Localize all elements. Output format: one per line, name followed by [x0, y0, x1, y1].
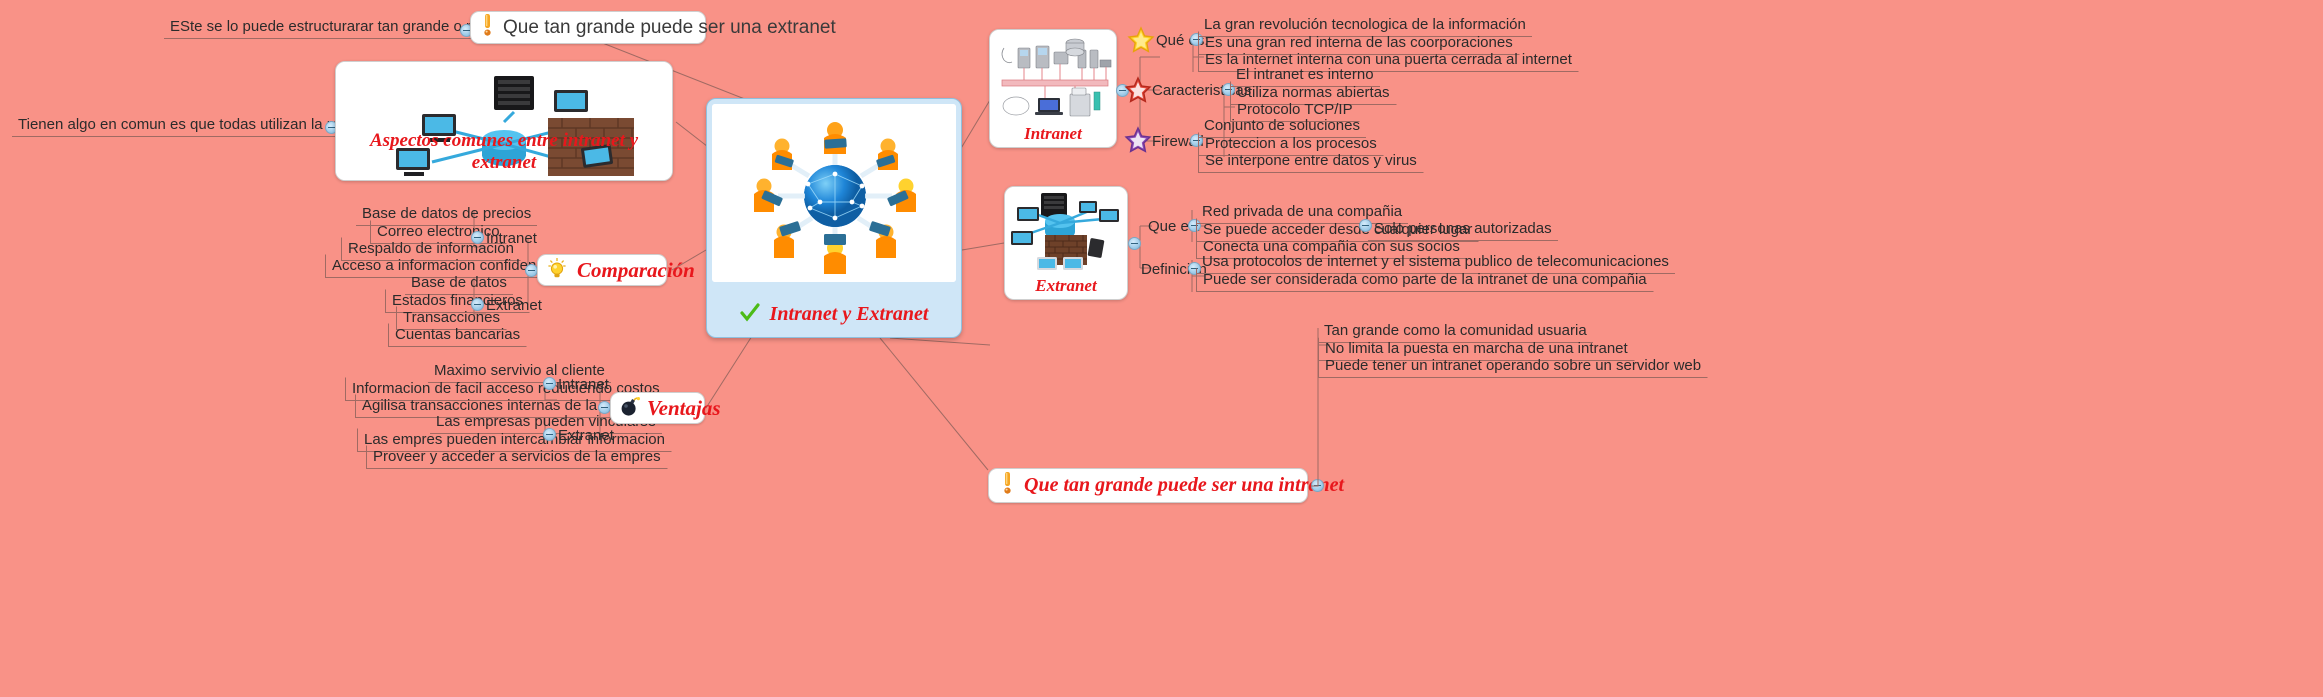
card-extranet[interactable]: Extranet — [1004, 186, 1128, 300]
card-comparacion-label: Comparación — [577, 258, 695, 283]
card-extranet-label: Extranet — [1005, 276, 1127, 296]
card-intranet-label: Intranet — [990, 124, 1116, 144]
central-node[interactable]: Intranet y Extranet — [706, 98, 962, 338]
purple-star-icon — [1124, 126, 1152, 159]
card-aspectos-comunes[interactable]: Aspectos comunes entre intranet y extran… — [335, 61, 673, 181]
collapse-handle-ventajas-intranet[interactable] — [543, 377, 556, 390]
central-node-caption-wrap: Intranet y Extranet — [707, 303, 961, 329]
yellow-star-icon — [1127, 26, 1155, 59]
leaf-intranet-size-3[interactable]: Puede tener un intranet operando sobre u… — [1318, 354, 1708, 378]
collapse-handle-comparacion-extranet[interactable] — [471, 298, 484, 311]
card-ventajas-label: Ventajas — [647, 396, 721, 421]
leaf-extranet-def-2[interactable]: Puede ser considerada como parte de la i… — [1196, 268, 1654, 292]
leaf-intranet-firewall-3[interactable]: Se interpone entre datos y virus — [1198, 149, 1424, 173]
central-illustration — [712, 104, 956, 282]
red-star-icon — [1124, 76, 1152, 109]
card-aspectos-comunes-label: Aspectos comunes entre intranet y extran… — [336, 130, 672, 174]
central-node-label: Intranet y Extranet — [770, 303, 929, 325]
ventajas-group-intranet-label: Intranet — [558, 376, 609, 393]
ventajas-group-extranet-label: Extranet — [558, 427, 614, 444]
card-intranet-size[interactable]: Que tan grande puede ser una intranet — [988, 468, 1308, 503]
leaf-extranet-quees-2-sub[interactable]: Solo personas autorizadas — [1368, 218, 1558, 241]
card-extranet-size[interactable]: Que tan grande puede ser una extranet — [470, 11, 706, 44]
card-extranet-size-label: Que tan grande puede ser una extranet — [503, 17, 836, 39]
intranet-diagram-image — [990, 30, 1116, 128]
exclamation-icon — [481, 13, 494, 42]
comparacion-group-intranet-label: Intranet — [486, 230, 537, 247]
collapse-handle-extranet[interactable] — [1128, 237, 1141, 250]
card-intranet-size-label: Que tan grande puede ser una intranet — [1024, 474, 1344, 497]
mindmap-canvas: ESte se lo puede estructurarar tan grand… — [0, 0, 2323, 697]
green-check-icon — [740, 303, 760, 329]
collapse-handle-intranet-size[interactable] — [1311, 479, 1324, 492]
leaf-comparacion-e4[interactable]: Cuentas bancarias — [388, 323, 527, 347]
bomb-icon — [619, 395, 641, 422]
card-comparacion[interactable]: Comparación — [537, 254, 667, 286]
card-intranet[interactable]: Intranet — [989, 29, 1117, 148]
card-ventajas[interactable]: Ventajas — [610, 392, 705, 424]
lightbulb-icon — [547, 257, 567, 284]
collapse-handle-comparacion-intranet[interactable] — [471, 231, 484, 244]
leaf-ventajas-e3[interactable]: Proveer y acceder a servicios de la empr… — [366, 445, 668, 469]
collapse-handle-ventajas-extranet[interactable] — [543, 428, 556, 441]
exclamation-icon — [1001, 471, 1014, 500]
extranet-diagram-image — [1005, 187, 1127, 281]
comparacion-group-extranet-label: Extranet — [486, 297, 542, 314]
